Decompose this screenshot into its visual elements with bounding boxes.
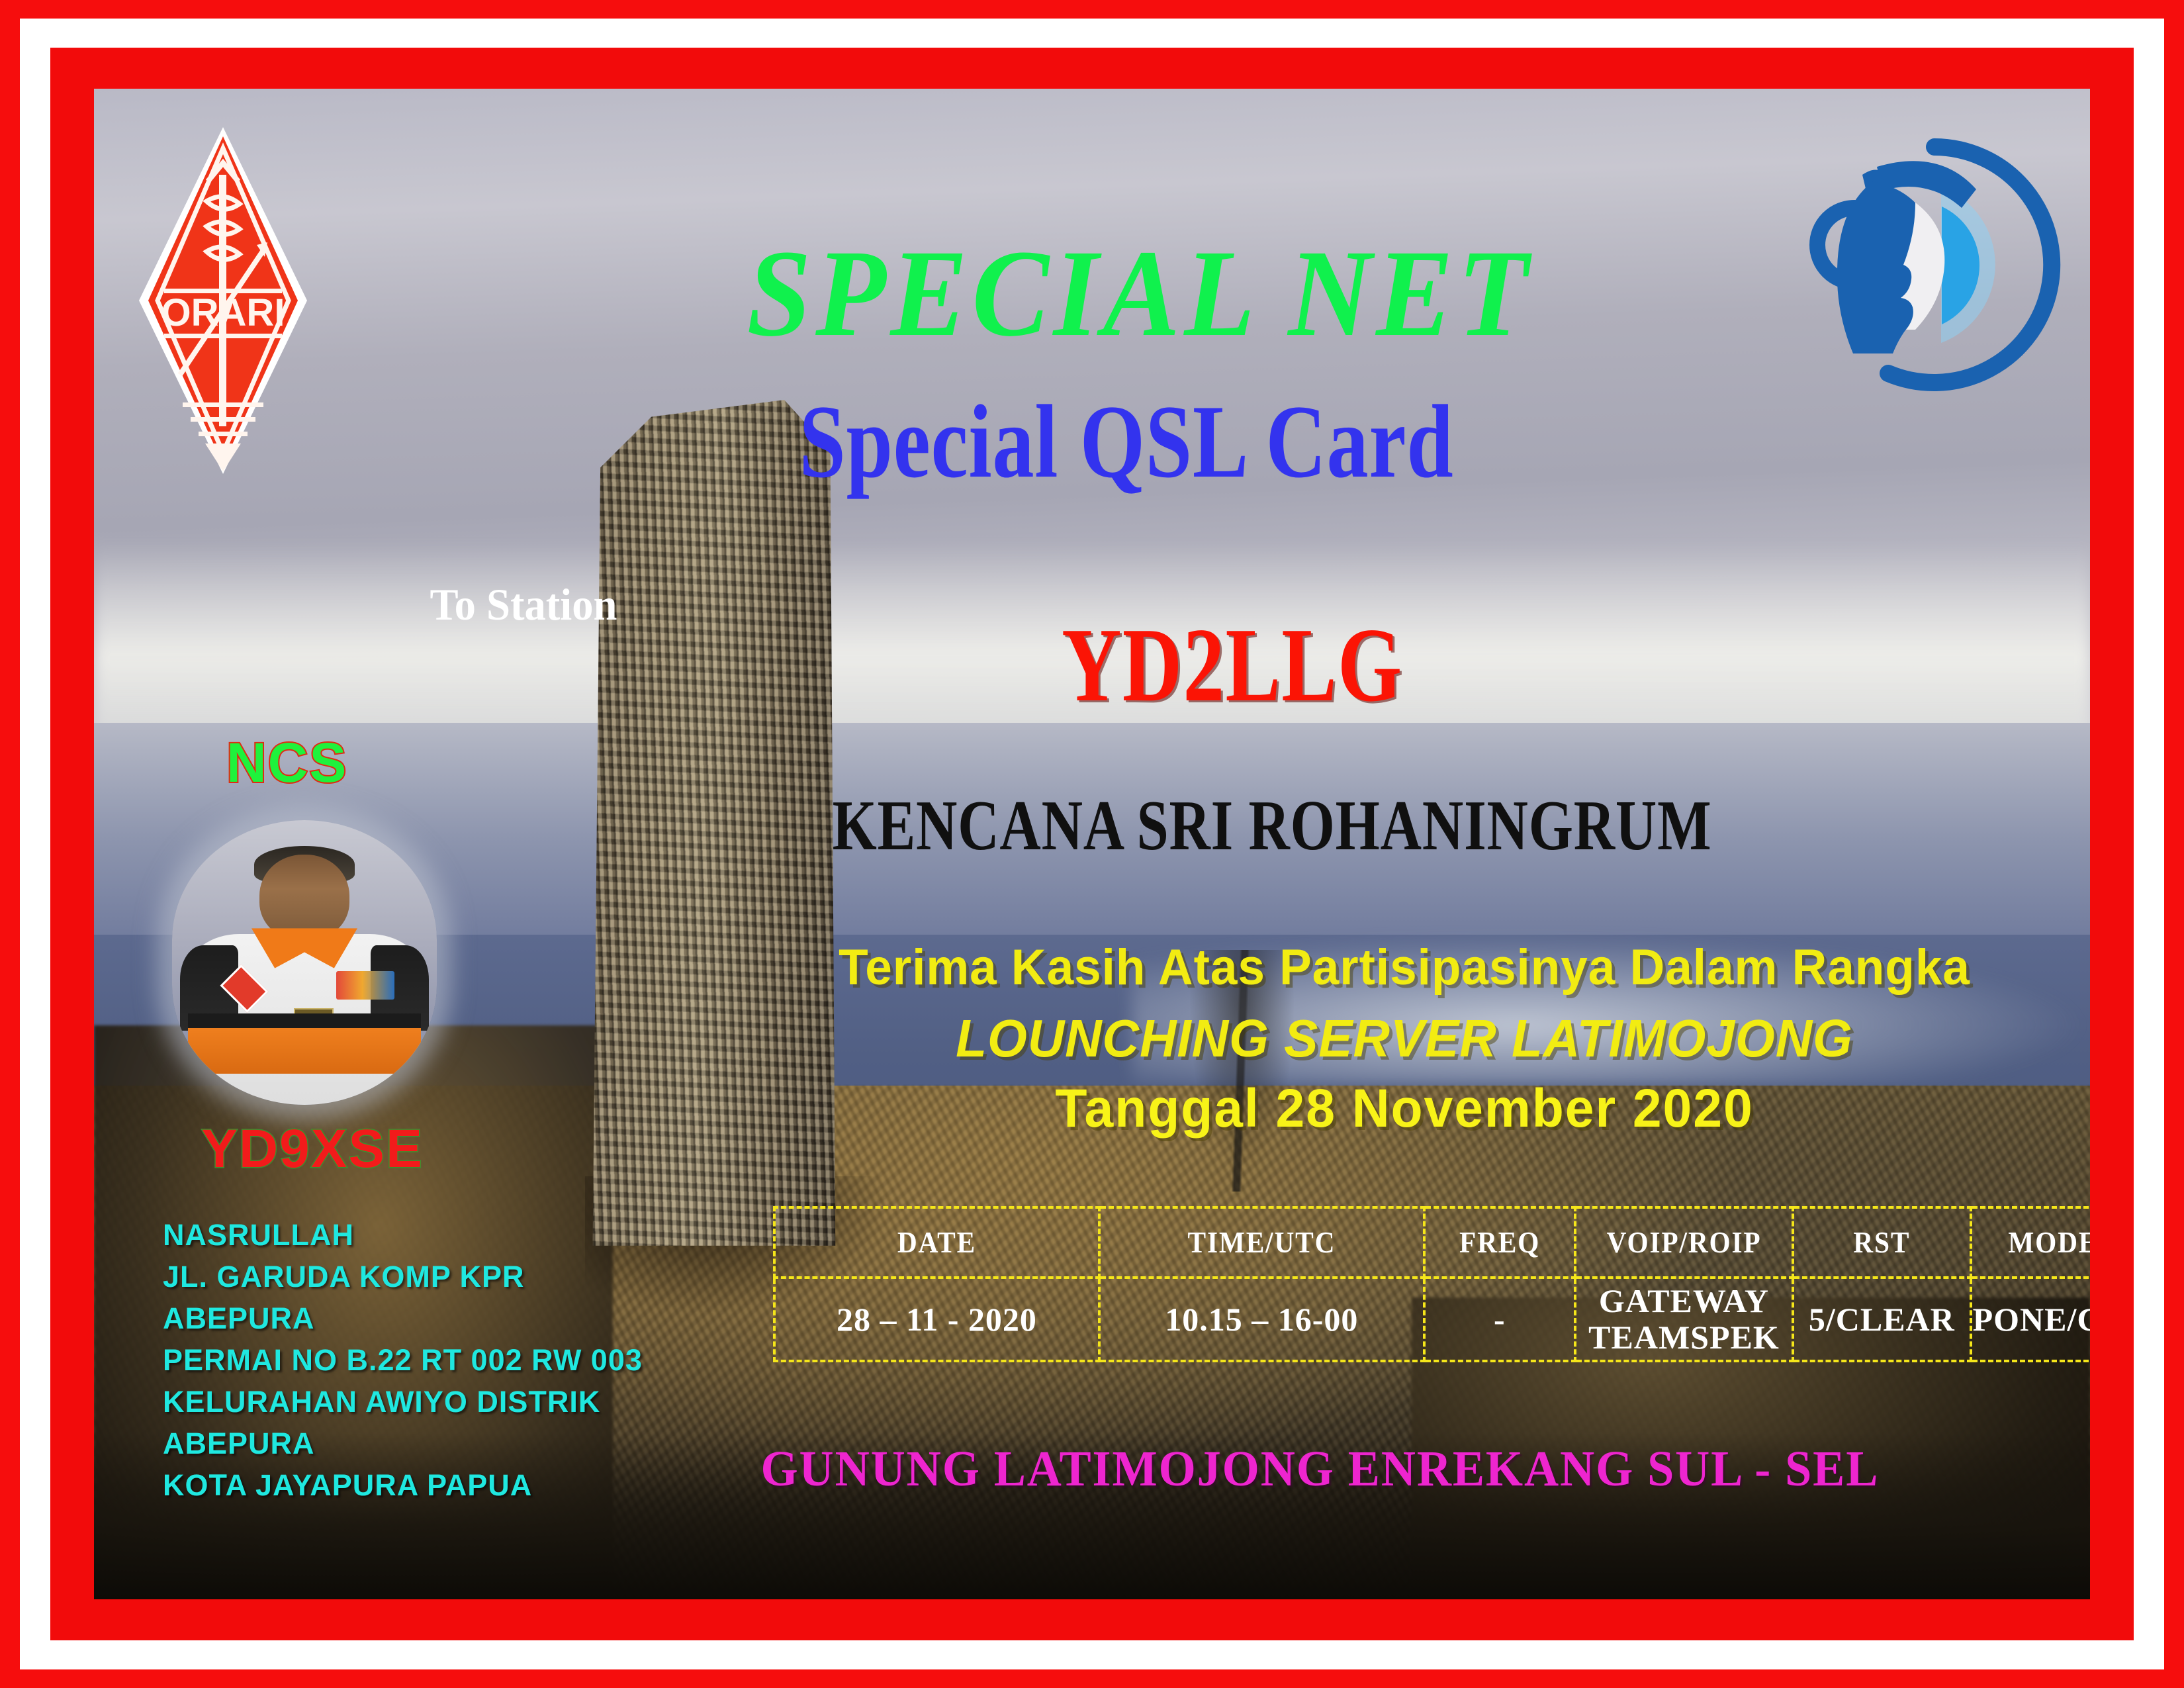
event-date: Tanggal 28 November 2020 <box>782 1082 2027 1136</box>
operator-name: KENCANA SRI ROHANINGRUM <box>806 790 1738 862</box>
mailing-address: NASRULLAH JL. GARUDA KOMP KPR ABEPURA PE… <box>163 1214 679 1506</box>
card-overlay: ORARI <box>94 89 2090 1599</box>
address-line: KOTA JAYAPURA PAPUA <box>163 1464 679 1506</box>
avatar-sash <box>188 1028 421 1074</box>
address-line: NASRULLAH <box>163 1214 679 1256</box>
thanks-message: Terima Kasih Atas Partisipasinya Dalam R… <box>782 943 2027 993</box>
avatar-face <box>259 855 349 940</box>
address-line: ABEPURA <box>163 1423 679 1464</box>
avatar-patch-icon <box>336 971 394 1000</box>
orari-logo-icon: ORARI <box>134 122 312 479</box>
card-photo-area: ORARI <box>94 89 2090 1599</box>
ncs-callsign: YD9XSE <box>173 1118 451 1180</box>
event-name: LOUNCHING SERVER LATIMOJONG <box>782 1012 2027 1065</box>
cell-voip: GATEWAY TEAMSPEK <box>1575 1278 1793 1361</box>
cell-rst: 5/CLEAR <box>1793 1278 1971 1361</box>
qsl-card: ORARI <box>0 0 2184 1688</box>
address-line: KELURAHAN AWIYO DISTRIK <box>163 1381 679 1423</box>
operator-avatar <box>172 820 437 1105</box>
card-inner-red-border: ORARI <box>50 48 2134 1640</box>
column-header-rst: RST <box>1801 1207 1962 1278</box>
cell-freq: - <box>1424 1278 1575 1361</box>
address-line: PERMAI NO B.22 RT 002 RW 003 <box>163 1339 679 1381</box>
address-line: ABEPURA <box>163 1297 679 1339</box>
column-header-date: DATE <box>791 1207 1083 1278</box>
headset-profile-logo-icon <box>1799 128 2064 393</box>
address-line: JL. GARUDA KOMP KPR <box>163 1256 679 1297</box>
column-header-voip: VOIP/ROIP <box>1586 1207 1782 1278</box>
orari-logo-text: ORARI <box>161 291 285 334</box>
column-header-mode: MODE <box>1979 1207 2090 1278</box>
ncs-label: NCS <box>226 731 347 795</box>
page-title-special-net: SPECIAL NET <box>537 231 1743 355</box>
page-subtitle-qsl-card: Special QSL Card <box>597 390 1656 494</box>
station-callsign: YD2LLG <box>923 612 1542 718</box>
card-white-border: ORARI <box>20 19 2164 1669</box>
cell-date: 28 – 11 - 2020 <box>774 1278 1099 1361</box>
column-header-freq: FREQ <box>1432 1207 1567 1278</box>
avatar-stripe <box>188 1013 421 1028</box>
column-header-time: TIME/UTC <box>1115 1207 1408 1278</box>
table-row: 28 – 11 - 2020 10.15 – 16-00 - GATEWAY T… <box>774 1278 2090 1361</box>
cell-mode: PONE/CW <box>1971 1278 2090 1361</box>
to-station-label: To Station <box>430 579 617 631</box>
location-label: GUNUNG LATIMOJONG ENREKANG SUL - SEL <box>761 1440 1956 1498</box>
cell-time: 10.15 – 16-00 <box>1099 1278 1424 1361</box>
table-header-row: DATE TIME/UTC FREQ VOIP/ROIP RST MODE <box>774 1207 2090 1278</box>
qso-log-table: DATE TIME/UTC FREQ VOIP/ROIP RST MODE 28… <box>773 1206 2090 1362</box>
